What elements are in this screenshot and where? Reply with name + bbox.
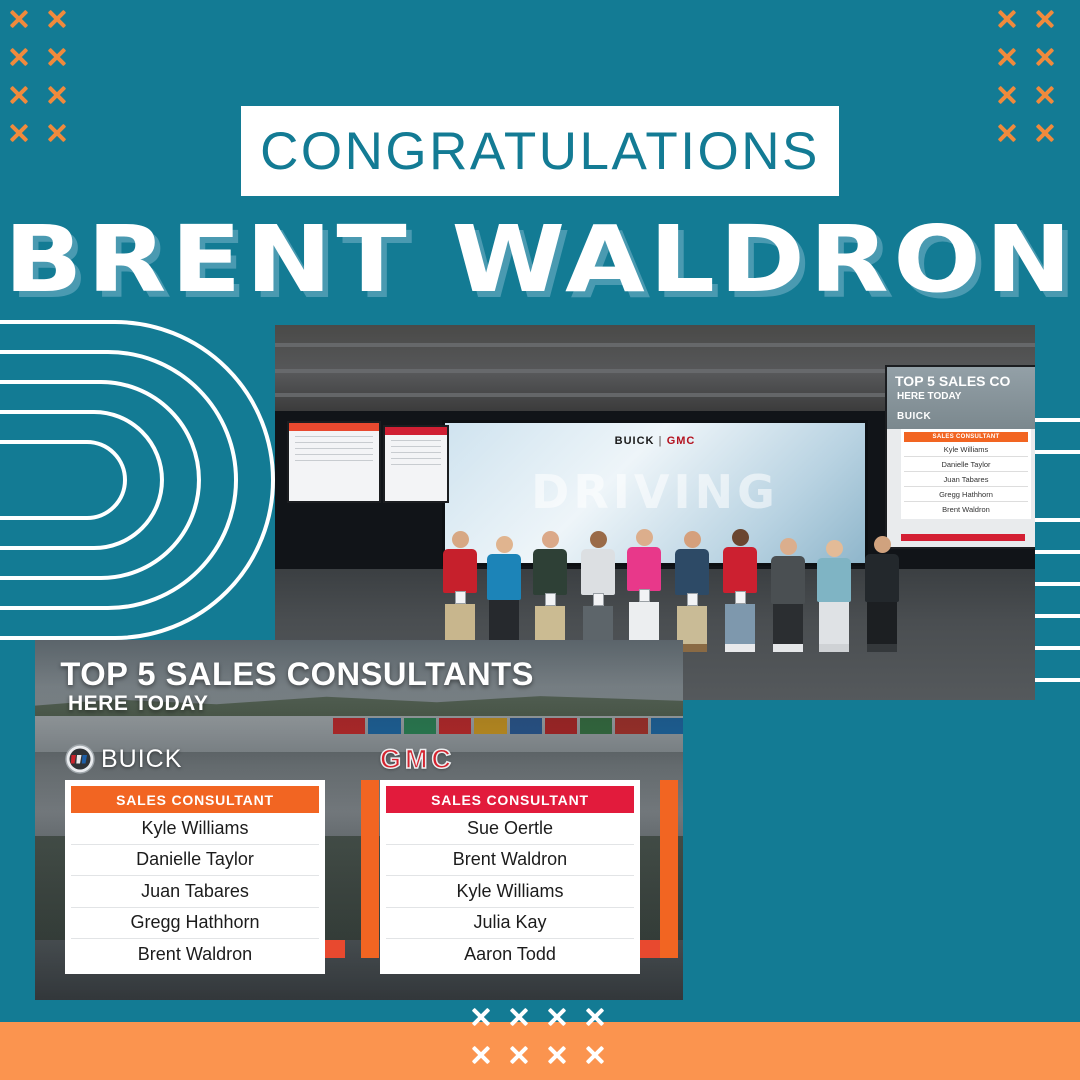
buick-tri-shield-icon xyxy=(65,744,95,774)
x-mark-icon xyxy=(996,122,1018,144)
x-mark-icon xyxy=(1034,8,1056,30)
photo-side-screen-header xyxy=(289,423,379,431)
decorative-x-grid-top-right xyxy=(996,8,1072,160)
photo-person xyxy=(443,531,477,652)
card-title: TOP 5 SALES CONSULTANTS xyxy=(60,656,534,693)
x-mark-icon xyxy=(470,1006,492,1028)
buick-consultant-panel: SALES CONSULTANT Kyle Williams Danielle … xyxy=(65,780,325,974)
list-item: Aaron Todd xyxy=(386,939,634,970)
decorative-x-grid-top-left xyxy=(8,8,84,160)
honoree-name: BRENT WALDRON xyxy=(0,214,1080,306)
concentric-arcs-icon-left xyxy=(0,300,280,660)
photo-backdrop-word: DRIVING xyxy=(531,465,779,519)
x-mark-icon xyxy=(46,84,68,106)
x-mark-icon xyxy=(584,1044,606,1066)
list-item: Julia Kay xyxy=(386,908,634,940)
x-mark-icon xyxy=(1034,84,1056,106)
congratulations-text: CONGRATULATIONS xyxy=(260,121,820,182)
photo-side-screen-left-b xyxy=(383,425,449,503)
x-mark-icon xyxy=(508,1044,530,1066)
congratulations-banner: CONGRATULATIONS xyxy=(241,106,839,196)
photo-side-screen-header xyxy=(385,427,447,435)
list-item: Sue Oertle xyxy=(386,813,634,845)
x-mark-icon xyxy=(996,84,1018,106)
gmc-column-header: SALES CONSULTANT xyxy=(386,786,634,813)
results-card: TOP 5 SALES CONSULTANTS HERE TODAY BUICK… xyxy=(35,640,683,1000)
photo-person xyxy=(581,531,615,652)
x-mark-icon xyxy=(584,1006,606,1028)
x-mark-icon xyxy=(46,8,68,30)
photo-backdrop-brands: BUICK | GMC xyxy=(615,435,696,447)
list-item: Juan Tabares xyxy=(71,876,319,908)
photo-side-screen-right: TOP 5 SALES CO HERE TODAY BUICK SALES CO… xyxy=(885,365,1035,549)
photo-backdrop-gmc-label: GMC xyxy=(667,435,696,447)
photo-person xyxy=(771,538,805,652)
photo-ceiling-beam xyxy=(275,343,1035,347)
x-mark-icon xyxy=(8,84,30,106)
list-item: Kyle Williams xyxy=(71,813,319,845)
photo-person xyxy=(487,536,521,652)
buick-brand-label: BUICK xyxy=(101,745,182,774)
photo-screen-title: TOP 5 SALES CO xyxy=(895,373,1010,389)
photo-person xyxy=(627,529,661,652)
list-item: Kyle Williams xyxy=(386,876,634,908)
x-mark-icon xyxy=(996,46,1018,68)
x-mark-icon xyxy=(8,8,30,30)
gmc-consultant-panel: SALES CONSULTANT Sue Oertle Brent Waldro… xyxy=(380,780,640,974)
list-item: Gregg Hathhorn xyxy=(71,908,319,940)
x-mark-icon xyxy=(546,1044,568,1066)
decorative-x-grid-bottom xyxy=(470,1006,622,1080)
photo-side-screen-left-a xyxy=(287,421,381,503)
list-item: Brent Waldron xyxy=(71,939,319,970)
photo-person xyxy=(533,531,567,652)
buick-column-header: SALES CONSULTANT xyxy=(71,786,319,813)
x-mark-icon xyxy=(996,8,1018,30)
photo-person xyxy=(723,529,757,652)
gmc-brand-row: GMC xyxy=(380,744,455,775)
x-mark-icon xyxy=(46,46,68,68)
x-mark-icon xyxy=(470,1044,492,1066)
gmc-consultant-list: Sue Oertle Brent Waldron Kyle Williams J… xyxy=(386,813,634,970)
buick-consultant-list: Kyle Williams Danielle Taylor Juan Tabar… xyxy=(71,813,319,970)
photo-screen-subtitle: HERE TODAY xyxy=(897,391,961,402)
panel-side-accent-right xyxy=(660,780,678,958)
list-item: Brent Waldron xyxy=(386,845,634,877)
photo-person xyxy=(865,536,899,652)
x-mark-icon xyxy=(1034,46,1056,68)
x-mark-icon xyxy=(508,1006,530,1028)
buick-brand-row: BUICK xyxy=(65,744,182,774)
photo-person xyxy=(817,540,851,652)
x-mark-icon xyxy=(46,122,68,144)
congratulations-graphic: CONGRATULATIONS BRENT WALDRON BUICK | GM… xyxy=(0,0,1080,1080)
x-mark-icon xyxy=(1034,122,1056,144)
card-subtitle: HERE TODAY xyxy=(68,692,208,716)
panel-side-accent-left xyxy=(361,780,379,958)
gmc-wordmark-icon: GMC xyxy=(380,744,455,774)
photo-backdrop-buick-label: BUICK xyxy=(615,435,655,447)
x-mark-icon xyxy=(8,46,30,68)
list-item: Danielle Taylor xyxy=(71,845,319,877)
photo-person xyxy=(675,531,709,652)
x-mark-icon xyxy=(8,122,30,144)
x-mark-icon xyxy=(546,1006,568,1028)
